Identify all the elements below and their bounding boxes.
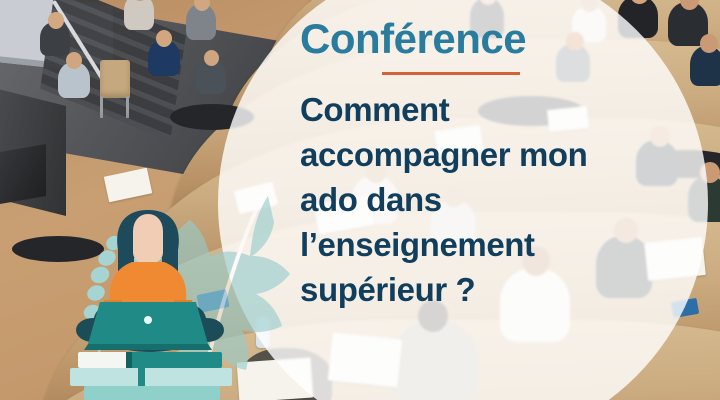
page-title: Conférence [300,18,670,60]
subtitle-line-2: accompagner mon [300,133,670,178]
subtitle-line-5: supérieur ? [300,268,670,313]
student-head [700,34,718,53]
loose-chair-leg [126,96,129,118]
title-underline-rule [382,72,520,75]
conference-poster: Conférence Comment accompagner mon ado d… [0,0,720,400]
subtitle-line-4: l’enseignement [300,223,670,268]
student-head [48,12,64,29]
subtitle-line-3: ado dans [300,178,670,223]
student-head [156,30,172,47]
poster-subtitle: Comment accompagner mon ado dans l’ensei… [300,88,670,312]
subtitle-line-1: Comment [300,88,670,133]
loose-chair-leg [100,96,103,118]
student-head [66,52,82,69]
desk-pedestal [12,236,104,262]
poster-text-block: Conférence Comment accompagner mon ado d… [300,18,670,312]
loose-chair [100,60,130,98]
student-head [204,50,219,66]
speaker-box [0,144,46,204]
student [124,0,154,30]
